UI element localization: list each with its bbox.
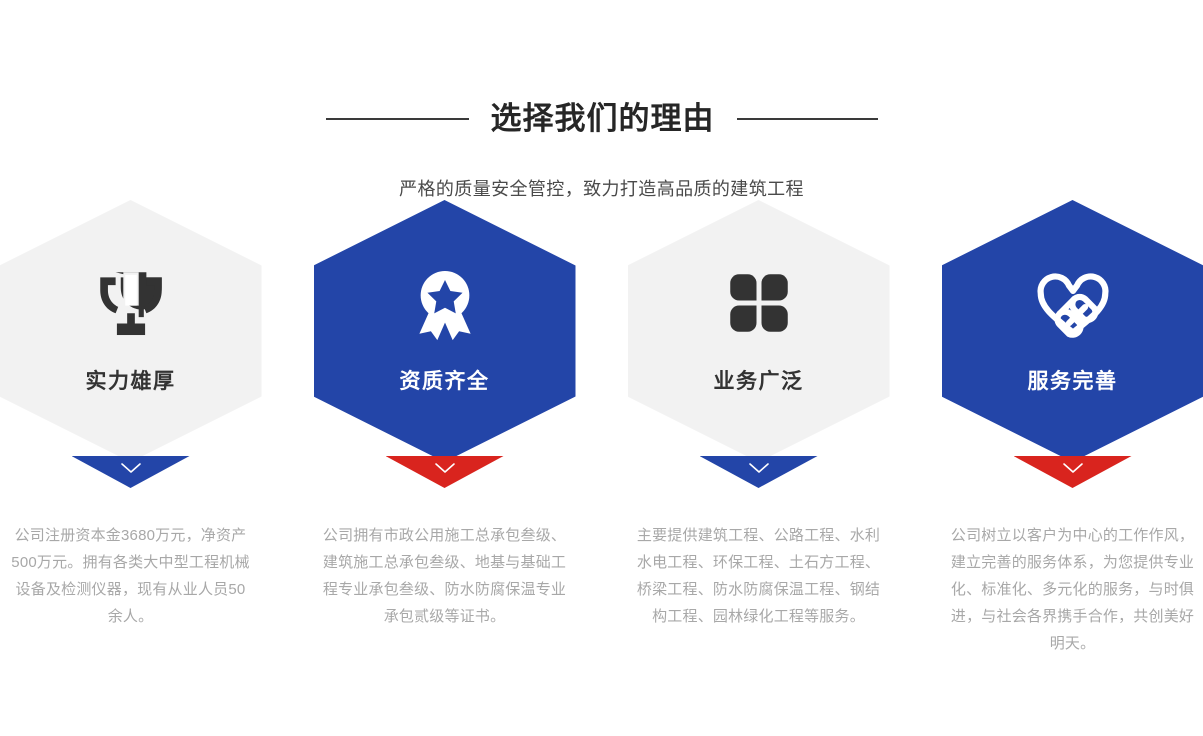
chevron-down-icon (1062, 462, 1084, 474)
hexagon-wrapper: 资质齐全 (314, 200, 576, 494)
feature-card-title: 资质齐全 (400, 368, 490, 396)
feature-card-business[interactable]: 业务广泛 主要提供建筑工程、公路工程、水利水电工程、环保工程、土石方工程、桥梁工… (616, 200, 901, 645)
section-header: 选择我们的理由 严格的质量安全管控，致力打造高品质的建筑工程 (0, 0, 1203, 202)
handshake-heart-icon (1030, 260, 1116, 346)
title-rule-left (326, 118, 469, 120)
four-petal-clover-icon (716, 260, 802, 346)
hexagon-shape: 业务广泛 (628, 200, 890, 462)
feature-card-service[interactable]: 服务完善 公司树立以客户为中心的工作作风，建立完善的服务体系，为您提供专业化、标… (930, 200, 1203, 672)
chevron-down-icon (120, 462, 142, 474)
hexagon-shape: 服务完善 (942, 200, 1203, 462)
page-subtitle: 严格的质量安全管控，致力打造高品质的建筑工程 (0, 176, 1203, 202)
title-rule-right (737, 118, 878, 120)
feature-card-description: 主要提供建筑工程、公路工程、水利水电工程、环保工程、土石方工程、桥梁工程、防水防… (635, 522, 883, 630)
hexagon-shape: 实力雄厚 (0, 200, 262, 462)
chevron-banner[interactable] (1014, 456, 1132, 488)
feature-card-description: 公司拥有市政公用施工总承包叁级、建筑施工总承包叁级、地基与基础工程专业承包叁级、… (321, 522, 569, 630)
feature-card-description: 公司注册资本金3680万元，净资产500万元。拥有各类大中型工程机械设备及检测仪… (8, 522, 253, 630)
hexagon-wrapper: 业务广泛 (628, 200, 890, 494)
feature-card-title: 业务广泛 (714, 368, 804, 396)
feature-card-qualification[interactable]: 资质齐全 公司拥有市政公用施工总承包叁级、建筑施工总承包叁级、地基与基础工程专业… (302, 200, 587, 645)
hexagon-shape: 资质齐全 (314, 200, 576, 462)
feature-card-description: 公司树立以客户为中心的工作作风，建立完善的服务体系，为您提供专业化、标准化、多元… (951, 522, 1195, 657)
chevron-banner[interactable] (72, 456, 190, 488)
feature-card-list: 实力雄厚 公司注册资本金3680万元，净资产500万元。拥有各类大中型工程机械设… (0, 200, 1203, 672)
chevron-down-icon (434, 462, 456, 474)
feature-card-strength[interactable]: 实力雄厚 公司注册资本金3680万元，净资产500万元。拥有各类大中型工程机械设… (0, 200, 273, 645)
chevron-banner[interactable] (386, 456, 504, 488)
chevron-down-icon (748, 462, 770, 474)
feature-card-title: 实力雄厚 (86, 368, 176, 396)
page-title: 选择我们的理由 (491, 99, 715, 139)
hexagon-wrapper: 实力雄厚 (0, 200, 262, 494)
trophy-icon (88, 260, 174, 346)
title-row: 选择我们的理由 (0, 78, 1203, 160)
chevron-banner[interactable] (700, 456, 818, 488)
feature-card-title: 服务完善 (1028, 368, 1118, 396)
hexagon-wrapper: 服务完善 (942, 200, 1203, 494)
medal-ribbon-icon (402, 260, 488, 346)
